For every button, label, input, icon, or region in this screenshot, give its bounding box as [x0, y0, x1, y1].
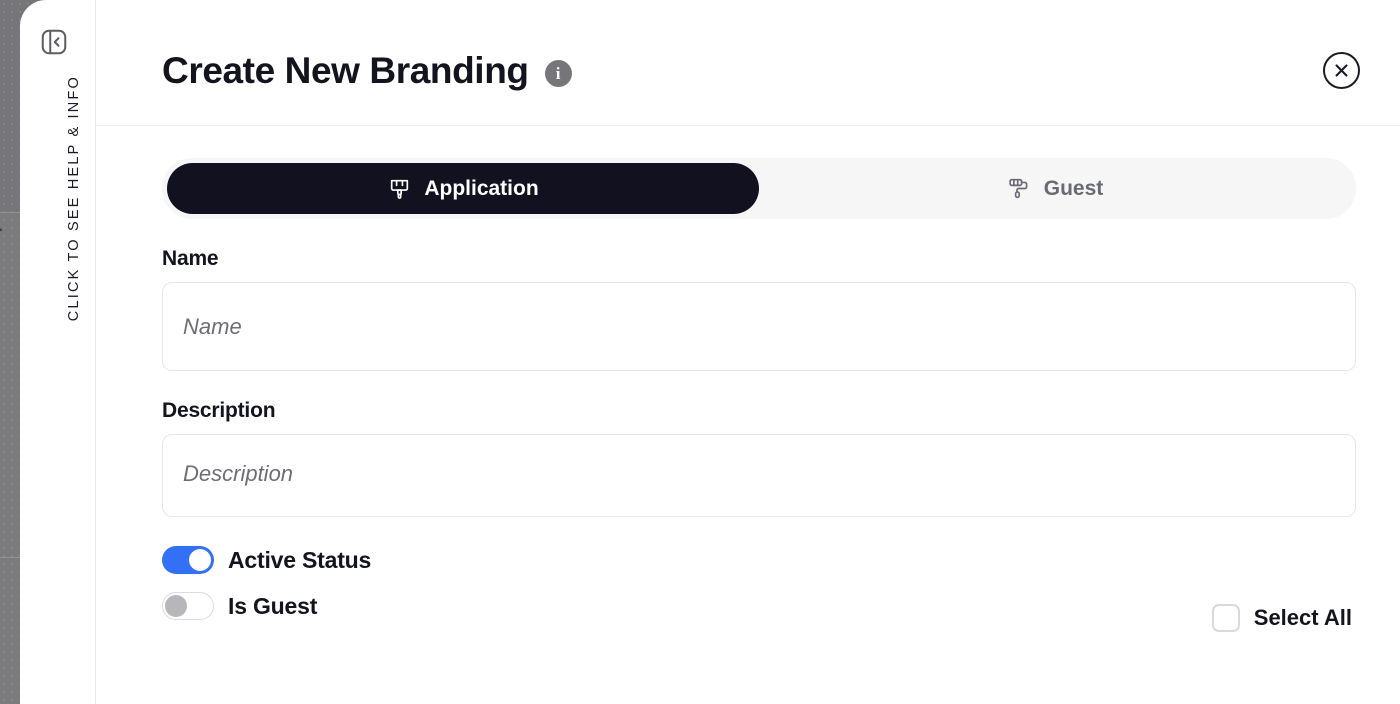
help-info-rail[interactable]: CLICK TO SEE HELP & INFO — [20, 0, 96, 704]
description-field-group: Description — [162, 399, 1352, 522]
close-icon[interactable] — [1323, 52, 1360, 89]
paint-roller-icon — [1007, 176, 1032, 201]
is-guest-row: Is Guest — [162, 592, 1352, 620]
name-input[interactable] — [162, 282, 1356, 371]
description-field-label: Description — [162, 399, 1352, 423]
app-root: er CLICK TO SEE HELP & INFO Create New B… — [0, 0, 1400, 704]
select-all-label: Select All — [1254, 605, 1352, 631]
branding-tabs: Application Guest — [162, 158, 1356, 219]
paint-brush-icon — [387, 176, 412, 201]
tab-application[interactable]: Application — [167, 163, 759, 214]
active-status-toggle[interactable] — [162, 546, 214, 574]
is-guest-toggle[interactable] — [162, 592, 214, 620]
active-status-row: Active Status — [162, 546, 1352, 574]
create-branding-modal: Create New Branding i — [96, 0, 1400, 704]
select-all-checkbox[interactable] — [1212, 604, 1240, 632]
name-field-group: Name — [162, 247, 1352, 371]
description-input[interactable] — [162, 434, 1356, 517]
tab-guest-label: Guest — [1044, 177, 1104, 201]
panel-collapse-left-icon[interactable] — [37, 25, 71, 59]
page-title: Create New Branding — [162, 52, 529, 89]
info-icon[interactable]: i — [545, 60, 572, 87]
help-info-rail-label: CLICK TO SEE HELP & INFO — [66, 75, 82, 321]
modal-title-group: Create New Branding i — [162, 52, 572, 89]
select-all-row: Select All — [1212, 604, 1352, 632]
toggle-knob — [165, 595, 187, 617]
backdrop-partial-text: er — [0, 222, 2, 246]
is-guest-label: Is Guest — [228, 593, 317, 620]
modal-body: Application Guest — [96, 126, 1400, 620]
tab-application-label: Application — [424, 177, 538, 201]
modal-header: Create New Branding i — [96, 0, 1400, 126]
toggle-knob — [189, 549, 211, 571]
tab-guest[interactable]: Guest — [759, 163, 1351, 214]
active-status-label: Active Status — [228, 547, 371, 574]
name-field-label: Name — [162, 247, 1352, 271]
